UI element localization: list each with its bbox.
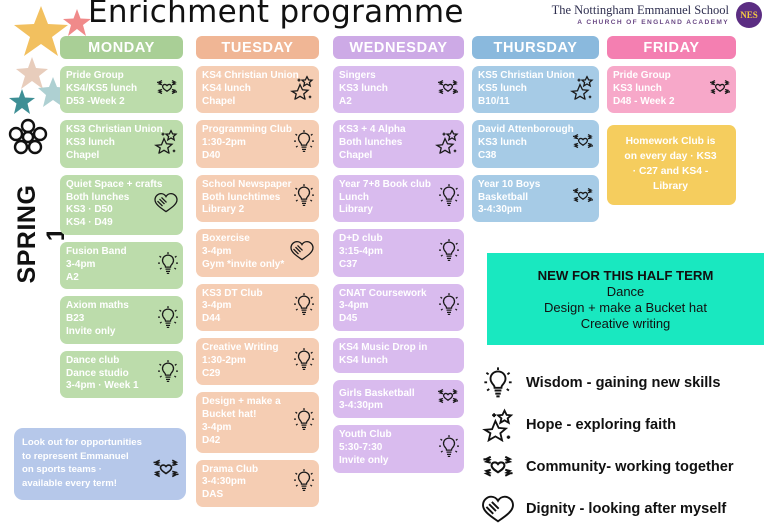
community-icon: [708, 76, 732, 103]
card-line: Drama Club: [202, 464, 287, 477]
note-line: to represent Emmanuel: [22, 450, 146, 464]
card-line: C37: [339, 259, 432, 272]
community-icon: [436, 76, 460, 103]
card-line: A2: [66, 272, 151, 285]
day-header-friday: FRIDAY: [607, 36, 736, 59]
wisdom-icon: [293, 293, 315, 322]
card-line: Singers: [339, 70, 432, 83]
card-line: Both lunches: [66, 192, 151, 205]
new-term-item: Dance: [607, 284, 645, 299]
activity-card[interactable]: D+D club 3:15-4pm C37: [333, 229, 464, 276]
card-line: Homework Club is: [614, 135, 727, 150]
note-line: Look out for opportunities: [22, 436, 146, 450]
card-line: Year 10 Boys: [478, 179, 567, 192]
page-title: Enrichment programme: [88, 0, 464, 30]
card-line: DAS: [202, 489, 287, 502]
wisdom-icon: [293, 408, 315, 437]
card-line: Library 2: [202, 204, 287, 217]
card-line: D40: [202, 150, 287, 163]
column-monday: MONDAY Pride Group KS4/KS5 lunch D53 -We…: [60, 36, 183, 405]
legend-item-dignity: Dignity - looking after myself: [478, 488, 768, 530]
card-line: Design + make a: [202, 396, 287, 409]
school-name: The Nottingham Emmanuel School: [552, 4, 729, 18]
card-line: Programming Club: [202, 124, 287, 137]
dignity-icon: [289, 239, 315, 266]
card-line: D53 -Week 2: [66, 96, 151, 109]
card-line: Both lunches: [339, 137, 432, 150]
card-line: D44: [202, 313, 287, 326]
community-icon: [155, 76, 179, 103]
card-line: Chapel: [66, 150, 151, 163]
card-line: 3-4pm: [202, 422, 287, 435]
legend-item-wisdom: Wisdom - gaining new skills: [478, 362, 768, 404]
activity-card[interactable]: Year 7+8 Book club Lunch Library: [333, 175, 464, 222]
hope-icon: [434, 130, 460, 159]
wisdom-icon: [157, 306, 179, 335]
sports-opportunities-note[interactable]: Look out for opportunities to represent …: [14, 428, 186, 500]
community-icon: [571, 185, 595, 212]
card-line: School Newspaper: [202, 179, 287, 192]
card-line: Girls Basketball: [339, 388, 432, 401]
day-header-monday: MONDAY: [60, 36, 183, 59]
card-line: Year 7+8 Book club: [339, 179, 432, 192]
legend-item-hope: Hope - exploring faith: [478, 404, 768, 446]
hope-icon: [153, 130, 179, 159]
card-line: KS4 lunch: [339, 355, 456, 368]
school-crest-icon: NES: [736, 2, 762, 28]
card-line: Invite only: [339, 455, 432, 468]
card-line: Basketball: [478, 192, 567, 205]
flower-icon: [8, 118, 48, 161]
activity-card[interactable]: Youth Club 5:30-7:30 Invite only: [333, 425, 464, 472]
card-line: 3-4pm: [339, 300, 432, 313]
column-tuesday: TUESDAY KS4 Christian Union KS4 lunch Ch…: [196, 36, 319, 514]
activity-card[interactable]: Year 10 Boys Basketball 3-4:30pm: [472, 175, 599, 222]
activity-card[interactable]: School Newspaper Both lunchtimes Library…: [196, 175, 319, 222]
dignity-icon: [153, 191, 179, 218]
card-line: Dance club: [66, 355, 151, 368]
activity-card[interactable]: Axiom maths B23 Invite only: [60, 296, 183, 343]
card-line: KS3 Christian Union: [66, 124, 151, 137]
column-thursday: THURSDAY KS5 Christian Union KS5 lunch B…: [472, 36, 599, 229]
activity-card[interactable]: Girls Basketball 3-4:30pm: [333, 380, 464, 419]
school-brand: The Nottingham Emmanuel School A CHURCH …: [552, 2, 762, 28]
community-icon: [151, 455, 181, 488]
star-decoration-teal: [8, 88, 36, 116]
dignity-icon: [478, 494, 518, 524]
card-line: KS3 lunch: [66, 137, 151, 150]
wisdom-icon: [157, 360, 179, 389]
card-line: 3-4pm: [66, 259, 151, 272]
card-line: A2: [339, 96, 432, 109]
card-line: on every day · KS3: [614, 150, 727, 165]
card-line: Pride Group: [66, 70, 151, 83]
card-line: C38: [478, 150, 567, 163]
card-line: D45: [339, 313, 432, 326]
school-subtitle: A CHURCH OF ENGLAND ACADEMY: [552, 19, 729, 26]
community-icon: [436, 385, 460, 412]
card-line: KS4 Christian Union: [202, 70, 287, 83]
wisdom-icon: [478, 366, 518, 400]
card-line: 5:30-7:30: [339, 442, 432, 455]
card-line: KS4 · D49: [66, 217, 151, 230]
wisdom-icon: [438, 238, 460, 267]
legend-label: Dignity - looking after myself: [526, 501, 726, 517]
card-line: 3-4:30pm: [202, 476, 287, 489]
wisdom-icon: [293, 130, 315, 159]
hope-icon: [289, 75, 315, 104]
new-term-item: Design + make a Bucket hat: [544, 300, 707, 315]
card-line: C29: [202, 368, 287, 381]
activity-card[interactable]: KS4 Christian Union KS4 lunch Chapel: [196, 66, 319, 113]
card-line: Lunch: [339, 192, 432, 205]
card-line: Fusion Band: [66, 246, 151, 259]
card-line: D+D club: [339, 233, 432, 246]
card-line: KS3 DT Club: [202, 288, 287, 301]
star-decoration-beige: [14, 56, 50, 92]
card-line: KS3 · D50: [66, 204, 151, 217]
activity-card[interactable]: Creative Writing 1:30-2pm C29: [196, 338, 319, 385]
card-line: Quiet Space + crafts: [66, 179, 151, 192]
card-line: KS5 lunch: [478, 83, 567, 96]
activity-card[interactable]: KS3 + 4 Alpha Both lunches Chapel: [333, 120, 464, 167]
activity-card[interactable]: Singers KS3 lunch A2: [333, 66, 464, 113]
card-line: 3-4pm: [202, 300, 287, 313]
card-line: 3-4:30pm: [478, 204, 567, 217]
card-line: Gym *invite only*: [202, 259, 287, 272]
card-line: B23: [66, 313, 151, 326]
legend-label: Wisdom - gaining new skills: [526, 375, 720, 391]
activity-card[interactable]: Design + make a Bucket hat! 3-4pm D42: [196, 392, 319, 452]
card-line: Chapel: [202, 96, 287, 109]
card-line: Pride Group: [613, 70, 704, 83]
legend-item-community: Community- working together: [478, 446, 768, 488]
card-line: · C27 and KS4 -: [614, 165, 727, 180]
column-wednesday: WEDNESDAY Singers KS3 lunch A2 KS3 + 4 A…: [333, 36, 464, 480]
wisdom-icon: [157, 251, 179, 280]
card-line: KS3 lunch: [478, 137, 567, 150]
wisdom-icon: [438, 184, 460, 213]
day-header-wednesday: WEDNESDAY: [333, 36, 464, 59]
activity-card[interactable]: KS4 Music Drop in KS4 lunch: [333, 338, 464, 373]
card-line: 3-4:30pm: [339, 400, 432, 413]
activity-card[interactable]: Pride Group KS3 lunch D48 - Week 2: [607, 66, 736, 113]
card-line: Library: [339, 204, 432, 217]
column-friday: FRIDAY Pride Group KS3 lunch D48 - Week …: [607, 36, 736, 212]
hope-icon: [478, 408, 518, 442]
day-header-tuesday: TUESDAY: [196, 36, 319, 59]
activity-card[interactable]: David Attenborough KS3 lunch C38: [472, 120, 599, 167]
community-icon: [478, 451, 518, 483]
card-line: 3:15-4pm: [339, 246, 432, 259]
new-this-half-term-box: NEW FOR THIS HALF TERM Dance Design + ma…: [487, 253, 764, 345]
card-line: Axiom maths: [66, 300, 151, 313]
activity-card[interactable]: Fusion Band 3-4pm A2: [60, 242, 183, 289]
wisdom-icon: [293, 347, 315, 376]
note-line: available every term!: [22, 477, 146, 491]
card-line: CNAT Coursework: [339, 288, 432, 301]
card-line: KS3 + 4 Alpha: [339, 124, 432, 137]
activity-card[interactable]: KS3 DT Club 3-4pm D44: [196, 284, 319, 331]
card-line: Both lunchtimes: [202, 192, 287, 205]
wisdom-icon: [293, 469, 315, 498]
legend-label: Hope - exploring faith: [526, 417, 676, 433]
activity-card[interactable]: Programming Club 1:30-2pm D40: [196, 120, 319, 167]
card-line: Library: [614, 180, 727, 195]
card-line: Youth Club: [339, 429, 432, 442]
card-line: D42: [202, 435, 287, 448]
legend-label: Community- working together: [526, 459, 734, 475]
activity-card[interactable]: Boxercise 3-4pm Gym *invite only*: [196, 229, 319, 276]
activity-card[interactable]: Dance club Dance studio 3-4pm · Week 1: [60, 351, 183, 398]
card-line: KS4 Music Drop in: [339, 342, 456, 355]
activity-card[interactable]: KS3 Christian Union KS3 lunch Chapel: [60, 120, 183, 167]
activity-card[interactable]: KS5 Christian Union KS5 lunch B10/11: [472, 66, 599, 113]
card-line: David Attenborough: [478, 124, 567, 137]
card-line: KS4/KS5 lunch: [66, 83, 151, 96]
card-line: KS3 lunch: [339, 83, 432, 96]
card-line: KS3 lunch: [613, 83, 704, 96]
values-legend: Wisdom - gaining new skills Hope - explo…: [478, 362, 768, 530]
new-term-title: NEW FOR THIS HALF TERM: [538, 268, 714, 283]
wisdom-icon: [293, 184, 315, 213]
card-line: B10/11: [478, 96, 567, 109]
activity-card[interactable]: CNAT Coursework 3-4pm D45: [333, 284, 464, 331]
card-line: 3-4pm · Week 1: [66, 380, 151, 393]
homework-club-card[interactable]: Homework Club is on every day · KS3 · C2…: [607, 125, 736, 205]
card-line: KS4 lunch: [202, 83, 287, 96]
day-header-thursday: THURSDAY: [472, 36, 599, 59]
card-line: Creative Writing: [202, 342, 287, 355]
hope-icon: [569, 75, 595, 104]
card-line: D48 - Week 2: [613, 96, 704, 109]
activity-card[interactable]: Quiet Space + crafts Both lunches KS3 · …: [60, 175, 183, 235]
card-line: KS5 Christian Union: [478, 70, 567, 83]
activity-card[interactable]: Drama Club 3-4:30pm DAS: [196, 460, 319, 507]
card-line: 1:30-2pm: [202, 355, 287, 368]
activity-card[interactable]: Pride Group KS4/KS5 lunch D53 -Week 2: [60, 66, 183, 113]
note-line: on sports teams ·: [22, 463, 146, 477]
community-icon: [571, 131, 595, 158]
card-line: Invite only: [66, 326, 151, 339]
card-line: Boxercise: [202, 233, 287, 246]
card-line: Dance studio: [66, 368, 151, 381]
card-line: 1:30-2pm: [202, 137, 287, 150]
wisdom-icon: [438, 434, 460, 463]
new-term-item: Creative writing: [581, 316, 671, 331]
wisdom-icon: [438, 293, 460, 322]
card-line: Chapel: [339, 150, 432, 163]
card-line: Bucket hat!: [202, 409, 287, 422]
card-line: 3-4pm: [202, 246, 287, 259]
